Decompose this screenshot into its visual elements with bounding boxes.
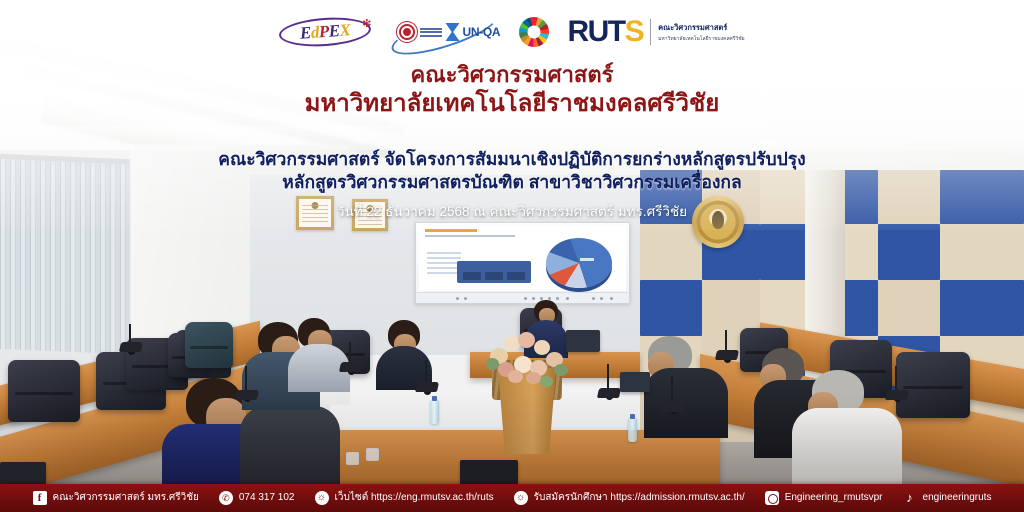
water-bottle — [628, 418, 637, 442]
event-date-location: วันที่ 22 ธันวาคม 2568 ณ คณะวิศวกรรมศาสต… — [0, 200, 1024, 222]
footer-instagram-label: Engineering_rmutsvpr — [785, 493, 883, 503]
aunqa-logo: UN-QA — [389, 17, 501, 47]
acoustic-panel — [640, 224, 702, 280]
drinking-glass — [346, 452, 359, 465]
faculty-heading-line1: คณะวิศวกรรมศาสตร์ — [0, 62, 1024, 89]
water-bottle — [430, 400, 439, 424]
torso — [792, 408, 902, 486]
footer-item-admission[interactable]: ☼ รับสมัครนักศึกษา https://admission.rmu… — [514, 491, 745, 505]
acoustic-panel — [940, 224, 1024, 280]
globe-icon: ☼ — [514, 491, 528, 505]
edpex-star-icon: ✻ — [362, 17, 371, 30]
slide-legend — [427, 252, 461, 276]
footer-website-label: เว็บไซต์ https://eng.rmutsv.ac.th/ruts — [335, 493, 494, 503]
tiktok-icon: ♪ — [903, 491, 917, 505]
chair — [185, 322, 233, 368]
acoustic-panel — [878, 224, 940, 280]
contact-footer-bar: f คณะวิศวกรรมศาสตร์ มทร.ศรีวิชัย ✆ 074 3… — [0, 484, 1024, 512]
facebook-icon: f — [33, 491, 47, 505]
globe-icon: ☼ — [315, 491, 329, 505]
slide-callout-box — [457, 261, 531, 283]
slide-subtitle-bar — [425, 235, 515, 237]
screen-toolbar — [416, 292, 629, 303]
ruts-thai-line2: มหาวิทยาลัยเทคโนโลยีราชมงคลศรีวิชัย — [658, 35, 744, 43]
footer-phone-label: 074 317 102 — [239, 493, 295, 503]
presentation-slide — [419, 226, 626, 291]
chair — [8, 360, 80, 422]
pie-chart — [546, 238, 612, 288]
instagram-icon — [765, 491, 779, 505]
aun-lines-icon — [420, 28, 442, 37]
torso — [644, 368, 728, 438]
chair — [896, 352, 970, 418]
edpex-logo: EdPEX ✻ — [279, 16, 371, 48]
acoustic-panel — [878, 280, 940, 336]
ruts-divider — [650, 19, 651, 45]
acoustic-panel — [940, 280, 1024, 336]
ruts-wordmark: RUTS — [567, 17, 643, 47]
aunqa-wordmark: UN-QA — [462, 25, 500, 39]
banner-canvas: EdPEX ✻ UN-QA RUTS คณะวิศวกรรมศาสตร์ มหา… — [0, 0, 1024, 512]
footer-admission-label: รับสมัครนักศึกษา https://admission.rmuts… — [534, 493, 745, 503]
footer-item-phone[interactable]: ✆ 074 317 102 — [219, 491, 295, 505]
faculty-heading: คณะวิศวกรรมศาสตร์ มหาวิทยาลัยเทคโนโลยีรา… — [0, 62, 1024, 118]
footer-tiktok-label: engineeringruts — [923, 493, 992, 503]
event-heading-line1: คณะวิศวกรรมศาสตร์ จัดโครงการสัมมนาเชิงปฏ… — [0, 148, 1024, 171]
drinking-glass — [366, 448, 379, 461]
ruts-thai-line1: คณะวิศวกรรมศาสตร์ — [658, 22, 744, 34]
footer-item-facebook[interactable]: f คณะวิศวกรรมศาสตร์ มทร.ศรีวิชัย — [33, 491, 199, 505]
ruts-logo: RUTS คณะวิศวกรรมศาสตร์ มหาวิทยาลัยเทคโนโ… — [567, 17, 744, 47]
footer-item-instagram[interactable]: Engineering_rmutsvpr — [765, 491, 883, 505]
pie-label — [580, 258, 594, 261]
torso — [240, 406, 340, 486]
projector-screen — [415, 222, 630, 304]
edpex-wordmark: EdPEX — [300, 20, 352, 43]
ruts-word-gold: S — [625, 15, 644, 48]
footer-item-website[interactable]: ☼ เว็บไซต์ https://eng.rmutsv.ac.th/ruts — [315, 491, 494, 505]
acoustic-panel — [640, 280, 702, 336]
ruts-word-navy: RUT — [567, 15, 624, 48]
logo-row: EdPEX ✻ UN-QA RUTS คณะวิศวกรรมศาสตร์ มหา… — [0, 16, 1024, 48]
laptop — [620, 372, 650, 392]
flower-arrangement — [484, 330, 572, 386]
phone-icon: ✆ — [219, 491, 233, 505]
event-heading: คณะวิศวกรรมศาสตร์ จัดโครงการสัมมนาเชิงปฏ… — [0, 148, 1024, 194]
sdg-wheel-icon — [519, 17, 549, 47]
faculty-heading-line2: มหาวิทยาลัยเทคโนโลยีราชมงคลศรีวิชัย — [0, 89, 1024, 118]
footer-facebook-label: คณะวิศวกรรมศาสตร์ มทร.ศรีวิชัย — [53, 493, 199, 503]
event-heading-line2: หลักสูตรวิศวกรรมศาสตรบัณฑิต สาขาวิชาวิศว… — [0, 171, 1024, 194]
footer-item-tiktok[interactable]: ♪ engineeringruts — [903, 491, 992, 505]
ruts-thai-block: คณะวิศวกรรมศาสตร์ มหาวิทยาลัยเทคโนโลยีรา… — [658, 22, 744, 43]
